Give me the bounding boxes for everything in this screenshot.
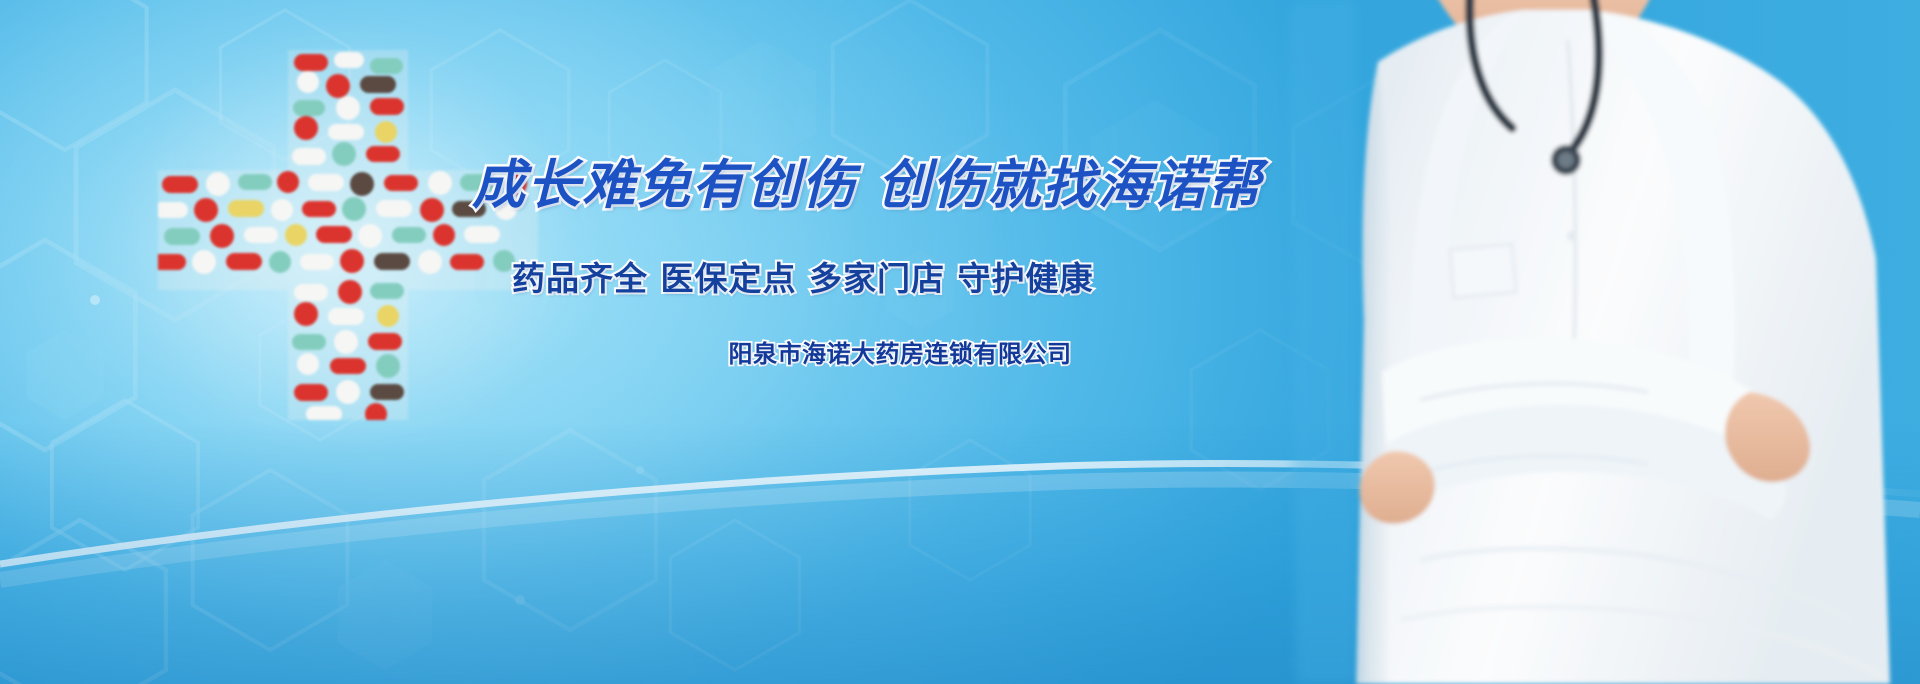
pharmacy-promo-banner: 成长难免有创伤 创伤就找海诺帮 药品齐全 医保定点 多家门店 守护健康 阳泉市海… xyxy=(0,0,1920,684)
banner-subtitle: 药品齐全 医保定点 多家门店 守护健康 xyxy=(512,252,1092,300)
doctor-figure-graphic xyxy=(1120,0,1920,684)
banner-headline: 成长难免有创伤 创伤就找海诺帮 xyxy=(472,143,1132,219)
banner-company-name: 阳泉市海诺大药房连锁有限公司 xyxy=(700,334,1100,369)
